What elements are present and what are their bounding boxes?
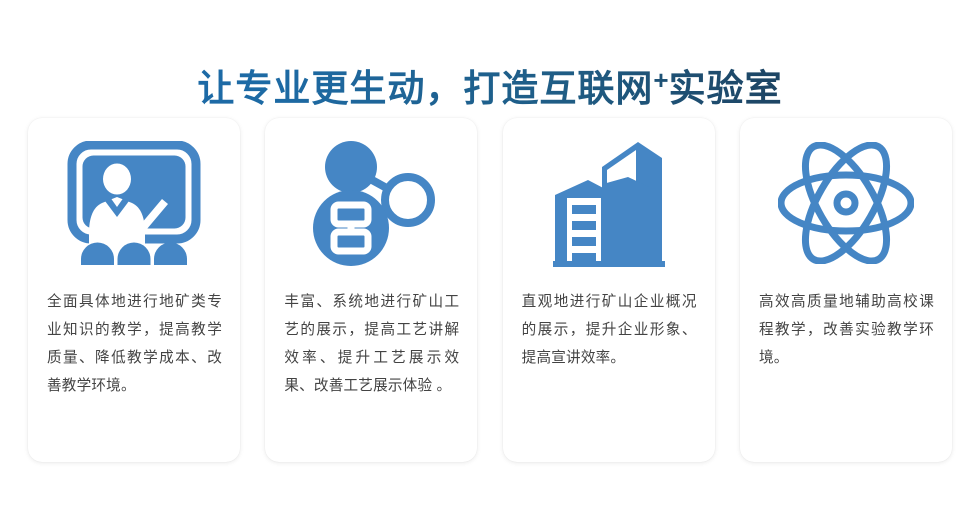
feature-section: 让专业更生动，打造互联网+实验室 xyxy=(0,0,980,508)
feature-card-description: 丰富、系统地进行矿山工艺的展示，提高工艺讲解效率、提升工艺展示效果、改善工艺展示… xyxy=(284,288,459,400)
feature-card-description: 全面具体地进行地矿类专业知识的教学，提高教学质量、降低教学成本、改善教学环境。 xyxy=(47,288,222,400)
feature-card-description: 直观地进行矿山企业概况的展示，提升企业形象、提高宣讲效率。 xyxy=(522,288,697,372)
classroom-teaching-icon xyxy=(28,118,240,288)
page-title: 让专业更生动，打造互联网+实验室 xyxy=(0,55,980,114)
page-title-superscript-plus: + xyxy=(653,65,668,95)
feature-card-lab-teaching[interactable]: 高效高质量地辅助高校课程教学，改善实验教学环境。 xyxy=(740,118,952,462)
feature-card-row: 全面具体地进行地矿类专业知识的教学，提高教学质量、降低教学成本、改善教学环境。 xyxy=(28,118,952,462)
feature-card-enterprise[interactable]: 直观地进行矿山企业概况的展示，提升企业形象、提高宣讲效率。 xyxy=(503,118,715,462)
atom-science-icon xyxy=(740,118,952,288)
feature-card-process-display[interactable]: 丰富、系统地进行矿山工艺的展示，提高工艺讲解效率、提升工艺展示效果、改善工艺展示… xyxy=(265,118,477,462)
page-title-text-before: 让专业更生动，打造互联网 xyxy=(197,68,653,109)
page-title-text-after: 实验室 xyxy=(669,68,783,109)
feature-card-teaching[interactable]: 全面具体地进行地矿类专业知识的教学，提高教学质量、降低教学成本、改善教学环境。 xyxy=(28,118,240,462)
share-network-icon xyxy=(265,118,477,288)
feature-card-description: 高效高质量地辅助高校课程教学，改善实验教学环境。 xyxy=(759,288,934,372)
office-buildings-icon xyxy=(503,118,715,288)
